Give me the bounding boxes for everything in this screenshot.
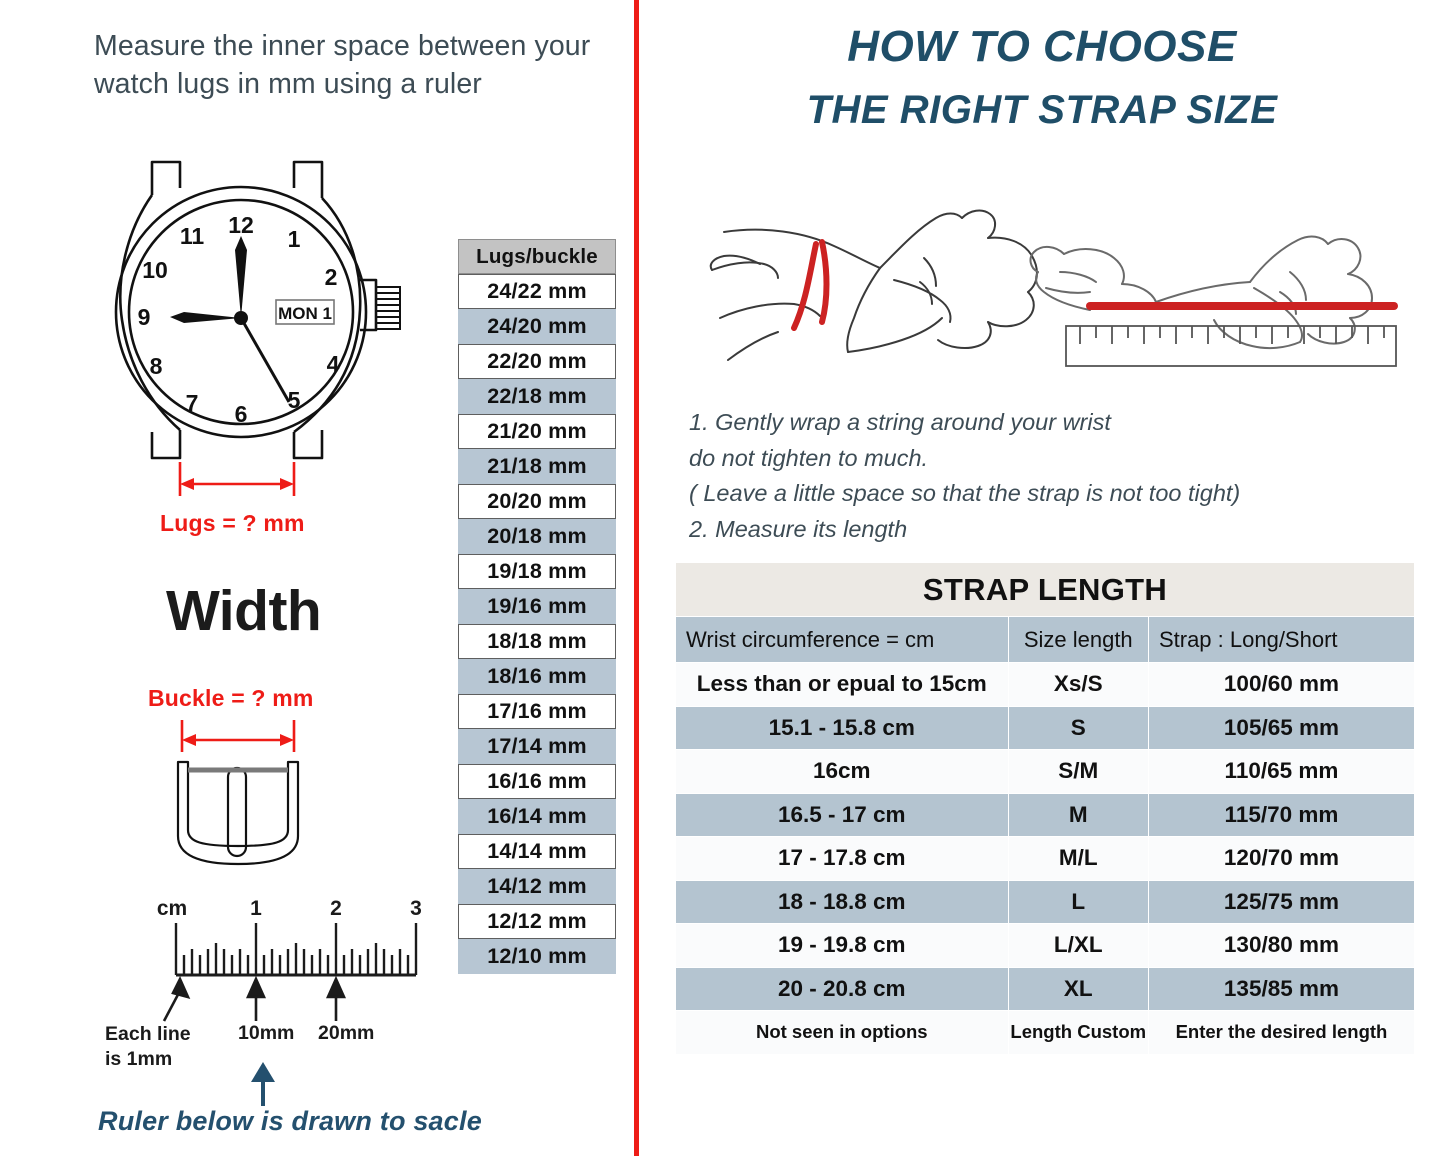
lugs-buckle-table: Lugs/buckle 24/22 mm 24/20 mm 22/20 mm 2… xyxy=(458,239,616,974)
ruler-callout-arrows xyxy=(164,979,344,1021)
column-header-strap: Strap : Long/Short xyxy=(1148,617,1414,663)
watch-numeral-4: 4 xyxy=(327,351,340,377)
watch-numeral-9: 9 xyxy=(138,304,151,330)
table-row[interactable]: 19 - 19.8 cm L/XL 130/80 mm xyxy=(676,924,1415,968)
cell-size: L/XL xyxy=(1008,924,1148,968)
mark-10mm-label: 10mm xyxy=(238,1022,294,1045)
cell-wrist: 16.5 - 17 cm xyxy=(676,793,1009,837)
watch-date-window: MON 1 xyxy=(276,300,334,324)
cell-size: M xyxy=(1008,793,1148,837)
watch-illustration: 12 1 2 4 5 6 7 8 9 10 11 MON 1 xyxy=(104,140,444,500)
mark-20mm-label: 20mm xyxy=(318,1022,374,1045)
lugs-option-row[interactable]: 18/16 mm xyxy=(458,659,616,694)
column-header-size: Size length xyxy=(1008,617,1148,663)
cell-size: XL xyxy=(1008,967,1148,1011)
measure-instructions: 1. Gently wrap a string around your wris… xyxy=(689,405,1429,548)
watch-numeral-11: 11 xyxy=(180,223,205,249)
column-header-wrist: Wrist circumference = cm xyxy=(676,617,1009,663)
lugs-option-row[interactable]: 12/10 mm xyxy=(458,939,616,974)
lugs-option-row[interactable]: 19/18 mm xyxy=(458,554,616,589)
watch-hands xyxy=(170,236,289,402)
cell-size: Length Custom xyxy=(1008,1011,1148,1055)
cell-wrist: 17 - 17.8 cm xyxy=(676,837,1009,881)
cell-wrist: 19 - 19.8 cm xyxy=(676,924,1009,968)
lugs-option-row[interactable]: 20/20 mm xyxy=(458,484,616,519)
lugs-option-row[interactable]: 14/14 mm xyxy=(458,834,616,869)
page-title-line1: HOW TO CHOOSE xyxy=(639,22,1445,72)
cell-size: L xyxy=(1008,880,1148,924)
strap-length-table-header-row: Wrist circumference = cm Size length Str… xyxy=(676,617,1415,663)
ruler-illustration: cm 1 2 3 xyxy=(140,893,460,1023)
wrist-measure-illustrations xyxy=(694,160,1414,375)
ruler-unit-label: cm xyxy=(157,897,187,920)
lugs-dimension-arrow xyxy=(180,462,294,496)
cell-strap: 120/70 mm xyxy=(1148,837,1414,881)
cell-wrist: 20 - 20.8 cm xyxy=(676,967,1009,1011)
red-string-left xyxy=(794,242,827,328)
cell-size: M/L xyxy=(1008,837,1148,881)
each-line-note: Each line is 1mm xyxy=(105,1022,191,1072)
buckle-illustration xyxy=(160,718,340,868)
watch-numeral-7: 7 xyxy=(186,390,199,416)
left-panel-heading: Measure the inner space between your wat… xyxy=(94,28,624,103)
lugs-option-row[interactable]: 21/18 mm xyxy=(458,449,616,484)
table-row[interactable]: 17 - 17.8 cm M/L 120/70 mm xyxy=(676,837,1415,881)
strap-length-table-title: STRAP LENGTH xyxy=(676,563,1415,617)
cell-size: S xyxy=(1008,706,1148,750)
lugs-buckle-table-header: Lugs/buckle xyxy=(458,239,616,274)
lugs-option-row[interactable]: 20/18 mm xyxy=(458,519,616,554)
table-row[interactable]: 18 - 18.8 cm L 125/75 mm xyxy=(676,880,1415,924)
cell-strap: Enter the desired length xyxy=(1148,1011,1414,1055)
watch-numeral-10: 10 xyxy=(142,257,168,283)
lugs-option-row[interactable]: 22/20 mm xyxy=(458,344,616,379)
table-row[interactable]: 15.1 - 15.8 cm S 105/65 mm xyxy=(676,706,1415,750)
ruler-tick-2: 2 xyxy=(330,897,342,920)
lugs-option-row[interactable]: 16/14 mm xyxy=(458,799,616,834)
scale-note: Ruler below is drawn to sacle xyxy=(98,1106,482,1137)
table-row[interactable]: 20 - 20.8 cm XL 135/85 mm xyxy=(676,967,1415,1011)
watch-numeral-2: 2 xyxy=(325,264,338,290)
cell-strap: 130/80 mm xyxy=(1148,924,1414,968)
cell-wrist: Less than or epual to 15cm xyxy=(676,663,1009,707)
buckle-dimension-arrow xyxy=(182,720,294,752)
cell-strap: 115/70 mm xyxy=(1148,793,1414,837)
width-heading: Width xyxy=(166,578,321,644)
watch-numeral-6: 6 xyxy=(235,401,248,427)
right-panel: HOW TO CHOOSE THE RIGHT STRAP SIZE xyxy=(639,0,1445,1156)
strap-size-guide-infographic: Measure the inner space between your wat… xyxy=(0,0,1445,1156)
watch-numeral-8: 8 xyxy=(150,353,163,379)
lugs-option-row[interactable]: 17/16 mm xyxy=(458,694,616,729)
cell-strap: 105/65 mm xyxy=(1148,706,1414,750)
svg-text:MON 1: MON 1 xyxy=(278,304,332,323)
cell-wrist: 15.1 - 15.8 cm xyxy=(676,706,1009,750)
scale-note-arrow xyxy=(243,1060,283,1108)
cell-wrist: 16cm xyxy=(676,750,1009,794)
watch-numeral-12: 12 xyxy=(228,212,254,238)
lugs-option-row[interactable]: 24/22 mm xyxy=(458,274,616,309)
table-row[interactable]: Not seen in options Length Custom Enter … xyxy=(676,1011,1415,1055)
cell-strap: 135/85 mm xyxy=(1148,967,1414,1011)
table-row[interactable]: 16.5 - 17 cm M 115/70 mm xyxy=(676,793,1415,837)
lugs-option-row[interactable]: 24/20 mm xyxy=(458,309,616,344)
lugs-buckle-table-body: Lugs/buckle 24/22 mm 24/20 mm 22/20 mm 2… xyxy=(458,239,616,974)
lugs-option-row[interactable]: 19/16 mm xyxy=(458,589,616,624)
watch-numeral-1: 1 xyxy=(288,226,301,252)
hand-with-string-icon xyxy=(711,211,1037,360)
left-panel: Measure the inner space between your wat… xyxy=(0,0,634,1156)
table-row[interactable]: 16cm S/M 110/65 mm xyxy=(676,750,1415,794)
strap-length-table: STRAP LENGTH Wrist circumference = cm Si… xyxy=(675,562,1415,1055)
page-title-line2: THE RIGHT STRAP SIZE xyxy=(639,88,1445,133)
lugs-option-row[interactable]: 14/12 mm xyxy=(458,869,616,904)
lugs-option-row[interactable]: 12/12 mm xyxy=(458,904,616,939)
lugs-measure-label: Lugs = ? mm xyxy=(160,510,305,537)
buckle-measure-label: Buckle = ? mm xyxy=(148,685,314,712)
cell-wrist: Not seen in options xyxy=(676,1011,1009,1055)
cell-strap: 100/60 mm xyxy=(1148,663,1414,707)
cell-size: S/M xyxy=(1008,750,1148,794)
cell-strap: 125/75 mm xyxy=(1148,880,1414,924)
measuring-ruler-icon xyxy=(1066,326,1396,366)
lugs-option-row[interactable]: 16/16 mm xyxy=(458,764,616,799)
ruler-tick-3: 3 xyxy=(410,897,422,920)
ruler-tick-1: 1 xyxy=(250,897,262,920)
lugs-option-row[interactable]: 17/14 mm xyxy=(458,729,616,764)
lugs-option-row[interactable]: 21/20 mm xyxy=(458,414,616,449)
cell-strap: 110/65 mm xyxy=(1148,750,1414,794)
cell-size: Xs/S xyxy=(1008,663,1148,707)
cell-wrist: 18 - 18.8 cm xyxy=(676,880,1009,924)
lugs-option-row[interactable]: 22/18 mm xyxy=(458,379,616,414)
table-row[interactable]: Less than or epual to 15cm Xs/S 100/60 m… xyxy=(676,663,1415,707)
lugs-option-row[interactable]: 18/18 mm xyxy=(458,624,616,659)
